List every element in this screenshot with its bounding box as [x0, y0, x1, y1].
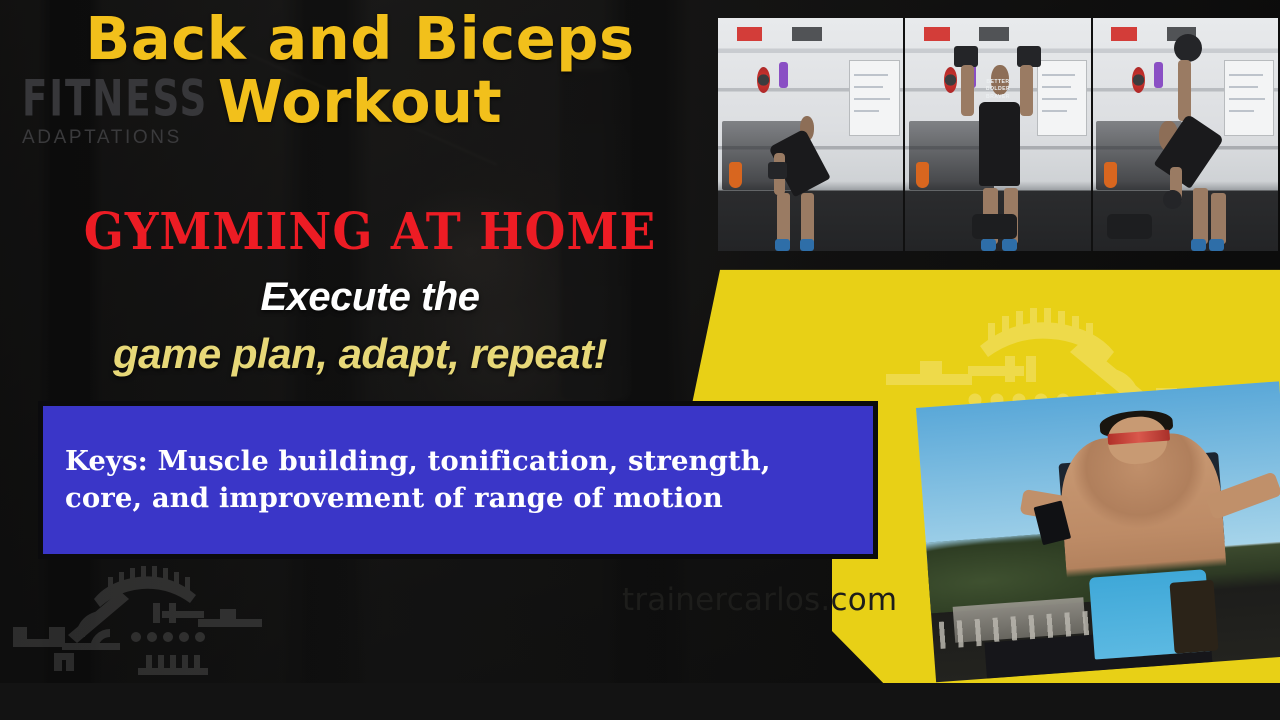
- athlete-leg-left: [1193, 188, 1208, 244]
- gym-photo-windmill: [1093, 18, 1278, 251]
- title-line-1: Back and Biceps: [0, 8, 720, 71]
- foam-roller: [779, 62, 788, 88]
- floor-dumbbell: [1107, 214, 1151, 240]
- mud-splatter: [1170, 579, 1219, 654]
- website-url[interactable]: trainercarlos.com: [622, 582, 897, 618]
- shelf-box-red: [1111, 27, 1137, 41]
- whiteboard: [1037, 60, 1087, 137]
- weight-plate: [944, 67, 957, 93]
- foam-roller: [1154, 62, 1163, 88]
- athlete-arm-left: [961, 65, 974, 116]
- gym-photo-overhead-press: BETTER BOLDER BRAVER: [905, 18, 1092, 251]
- title-line-2: Workout: [0, 71, 720, 134]
- dumbbell-overhead: [1174, 34, 1202, 62]
- athlete-shoe-right: [1209, 239, 1224, 251]
- athlete-arm-right: [1020, 65, 1033, 116]
- athlete-shoe-right: [800, 239, 815, 251]
- shelf-box-grey: [792, 27, 822, 41]
- athlete-shoe-right: [1002, 239, 1017, 251]
- tagline-line-1: Execute the: [0, 275, 740, 320]
- athlete-shoe-left: [981, 239, 996, 251]
- dumbbell-held: [768, 162, 787, 178]
- shelf-box-red: [737, 27, 763, 41]
- dumbbell-left: [954, 46, 978, 67]
- whiteboard: [1224, 60, 1274, 137]
- page-title: Back and Biceps Workout: [0, 8, 720, 133]
- athlete-arm-up: [1178, 60, 1191, 121]
- athlete-leg-left: [777, 193, 790, 244]
- tank-top-slogan: BETTER BOLDER BRAVER: [986, 79, 1010, 102]
- subheading: GYMMING AT HOME: [0, 207, 740, 258]
- keys-callout-box: Keys: Muscle building, tonification, str…: [38, 401, 878, 559]
- athlete-shoe-left: [1191, 239, 1206, 251]
- athlete-leg-right: [801, 193, 814, 244]
- video-slide-canvas: FITNESS ADAPTATIONS: [0, 0, 1280, 720]
- floor-dumbbell: [972, 214, 1016, 240]
- gym-exercise-photo-strip: BETTER BOLDER BRAVER: [718, 18, 1278, 251]
- athlete-leg-right: [1211, 193, 1226, 244]
- kettlebell: [916, 162, 929, 188]
- shelf-box-grey: [979, 27, 1009, 41]
- whiteboard: [849, 60, 899, 137]
- letterbox-bottom: [0, 683, 1280, 720]
- obstacle-race-runner-photo: [916, 381, 1280, 682]
- gym-photo-bent-over-row: [718, 18, 905, 251]
- weight-plate: [1132, 67, 1145, 93]
- keys-callout-text: Keys: Muscle building, tonification, str…: [43, 443, 873, 516]
- dumbbell-right: [1017, 46, 1041, 67]
- tagline-line-2: game plan, adapt, repeat!: [0, 330, 720, 378]
- kettlebell: [1104, 162, 1117, 188]
- kettlebell-held: [1163, 190, 1182, 209]
- weight-plate: [757, 67, 770, 93]
- athlete-shoe-left: [775, 239, 790, 251]
- athlete-torso-tank: [979, 102, 1020, 186]
- kettlebell: [729, 162, 742, 188]
- shelf-box-red: [924, 27, 950, 41]
